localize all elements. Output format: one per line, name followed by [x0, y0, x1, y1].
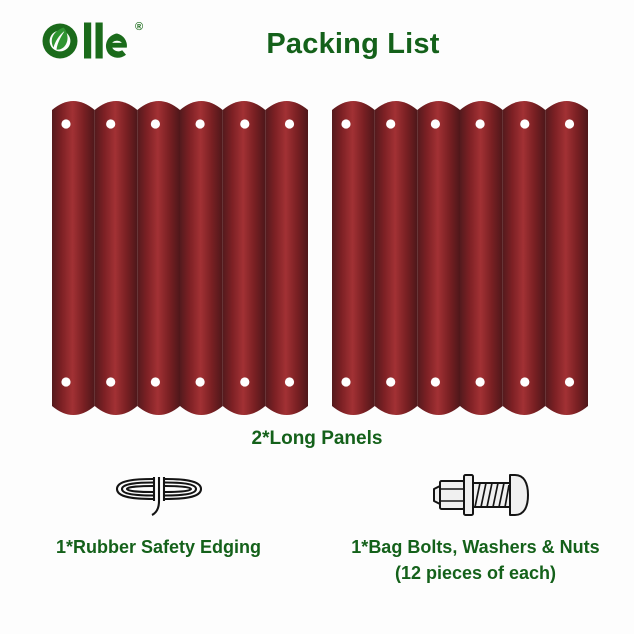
panel-illustrations	[0, 96, 634, 426]
accessory-label: 1*Bag Bolts, Washers & Nuts (12 pieces o…	[317, 534, 634, 586]
long-panel-left	[52, 96, 308, 420]
accessory-label-main: 1*Rubber Safety Edging	[56, 537, 261, 557]
packing-list-page: ® Packing List	[0, 0, 634, 634]
accessory-label-main: 1*Bag Bolts, Washers & Nuts	[351, 537, 599, 557]
corrugated-panel-icon	[52, 96, 308, 420]
coiled-rubber-edging-icon	[0, 462, 317, 528]
accessory-label: 1*Rubber Safety Edging	[0, 534, 317, 560]
bolt-washer-nut-icon	[317, 462, 634, 528]
accessory-bolts: 1*Bag Bolts, Washers & Nuts (12 pieces o…	[317, 462, 634, 586]
panels-caption: 2*Long Panels	[0, 428, 634, 450]
page-title: Packing List	[0, 28, 634, 61]
corrugated-panel-icon	[332, 96, 588, 420]
page-title-text: Packing List	[266, 28, 439, 61]
accessory-label-sub: (12 pieces of each)	[317, 560, 634, 586]
long-panel-right	[332, 96, 588, 420]
accessory-rubber-edging: 1*Rubber Safety Edging	[0, 462, 317, 560]
